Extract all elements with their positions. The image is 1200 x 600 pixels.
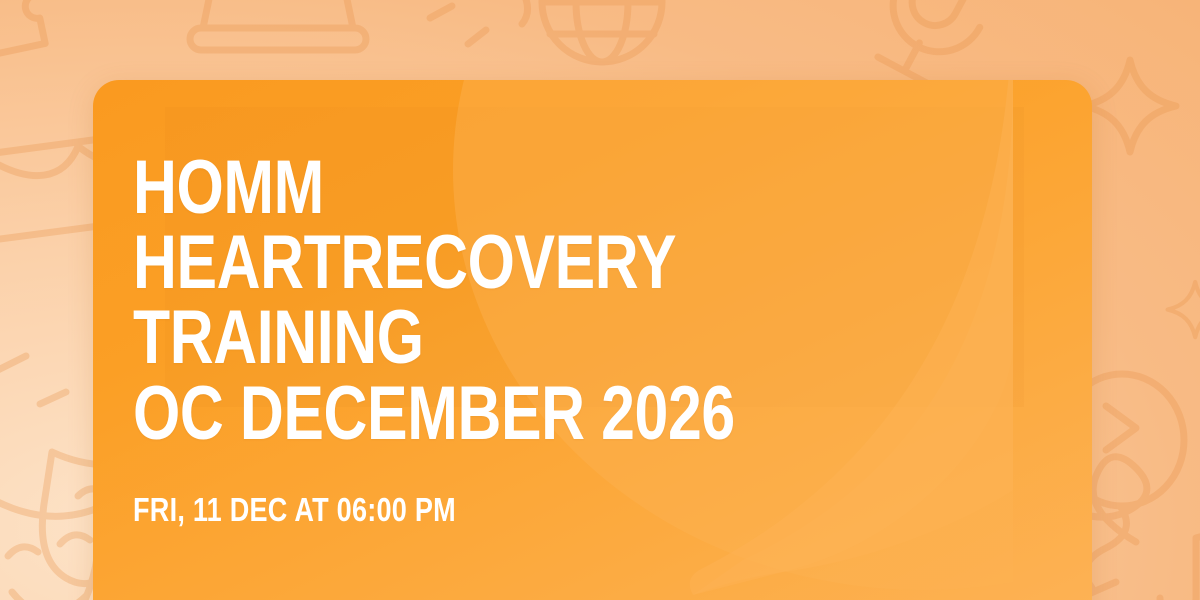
event-card[interactable]: HOMM HEARTRECOVERY TRAINING OC DECEMBER …	[93, 80, 1092, 600]
sparkle-icon	[1084, 60, 1176, 152]
sparkle-icon	[1168, 282, 1200, 337]
ticket-icon	[0, 0, 45, 57]
balloon-string-icon	[522, 0, 528, 24]
event-datetime: FRI, 11 DEC AT 06:00 PM	[133, 493, 887, 526]
event-title: HOMM HEARTRECOVERY TRAINING OC DECEMBER …	[133, 150, 868, 451]
microphone-icon	[864, 0, 1004, 93]
laptop-icon	[190, 0, 366, 50]
confetti-icon	[0, 356, 66, 404]
music-note-icon	[1160, 526, 1200, 600]
globe-icon	[542, 0, 662, 62]
confetti-icon	[430, 6, 486, 44]
card-content: HOMM HEARTRECOVERY TRAINING OC DECEMBER …	[133, 80, 1052, 600]
